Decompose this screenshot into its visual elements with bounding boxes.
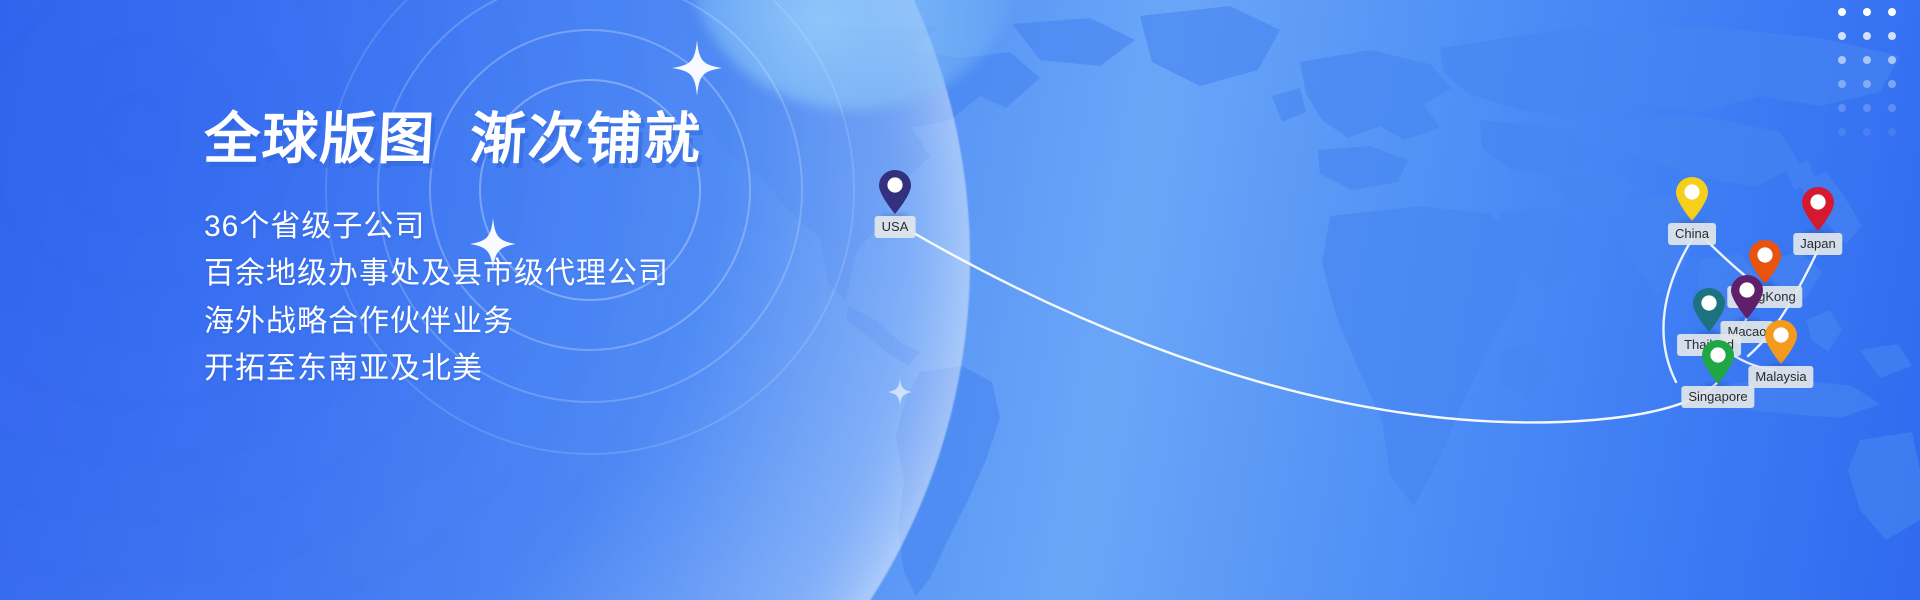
location-pin-icon bbox=[1675, 177, 1709, 222]
location-pin-icon bbox=[1801, 187, 1835, 232]
map-marker-japan[interactable]: Japan bbox=[1801, 187, 1835, 232]
location-pin-icon bbox=[1730, 275, 1764, 320]
location-pin-icon bbox=[1764, 320, 1798, 365]
headline-left: 全球版图 bbox=[202, 107, 437, 170]
description-line-text: 36个省级子公司 bbox=[204, 203, 425, 250]
description-line: 百余地级办事处及县市级代理公司 bbox=[204, 250, 702, 297]
banner-description-list: 36个省级子公司 百余地级办事处及县市级代理公司 海外战略合作伙伴业务 开拓至东… bbox=[204, 203, 702, 393]
map-marker-singapore[interactable]: Singapore bbox=[1701, 340, 1735, 385]
description-line: 36个省级子公司 bbox=[204, 203, 702, 250]
description-line: 开拓至东南亚及北美 bbox=[204, 345, 702, 392]
map-marker-label: USA bbox=[875, 216, 916, 238]
map-marker-usa[interactable]: USA bbox=[878, 170, 912, 215]
location-pin-icon bbox=[1701, 340, 1735, 385]
page-title: 全球版图渐次铺就 bbox=[202, 108, 703, 171]
map-marker-thailand[interactable]: Thailand bbox=[1692, 288, 1726, 333]
map-marker-macao[interactable]: Macao bbox=[1730, 275, 1764, 320]
location-pin-icon bbox=[878, 170, 912, 215]
map-marker-label: Singapore bbox=[1681, 386, 1754, 408]
map-marker-label: Malaysia bbox=[1748, 366, 1813, 388]
map-marker-malaysia[interactable]: Malaysia bbox=[1764, 320, 1798, 365]
global-map-banner: 全球版图渐次铺就 36个省级子公司 百余地级办事处及县市级代理公司 海外战略合作… bbox=[0, 0, 1920, 600]
headline-right: 渐次铺就 bbox=[468, 107, 703, 170]
description-line: 海外战略合作伙伴业务 bbox=[204, 298, 702, 345]
map-marker-label: Japan bbox=[1793, 233, 1842, 255]
map-marker-china[interactable]: China bbox=[1675, 177, 1709, 222]
banner-content: 全球版图渐次铺就 36个省级子公司 百余地级办事处及县市级代理公司 海外战略合作… bbox=[204, 108, 702, 392]
map-marker-label: China bbox=[1668, 223, 1716, 245]
location-pin-icon bbox=[1692, 288, 1726, 333]
dot-grid-decoration bbox=[1838, 8, 1896, 152]
